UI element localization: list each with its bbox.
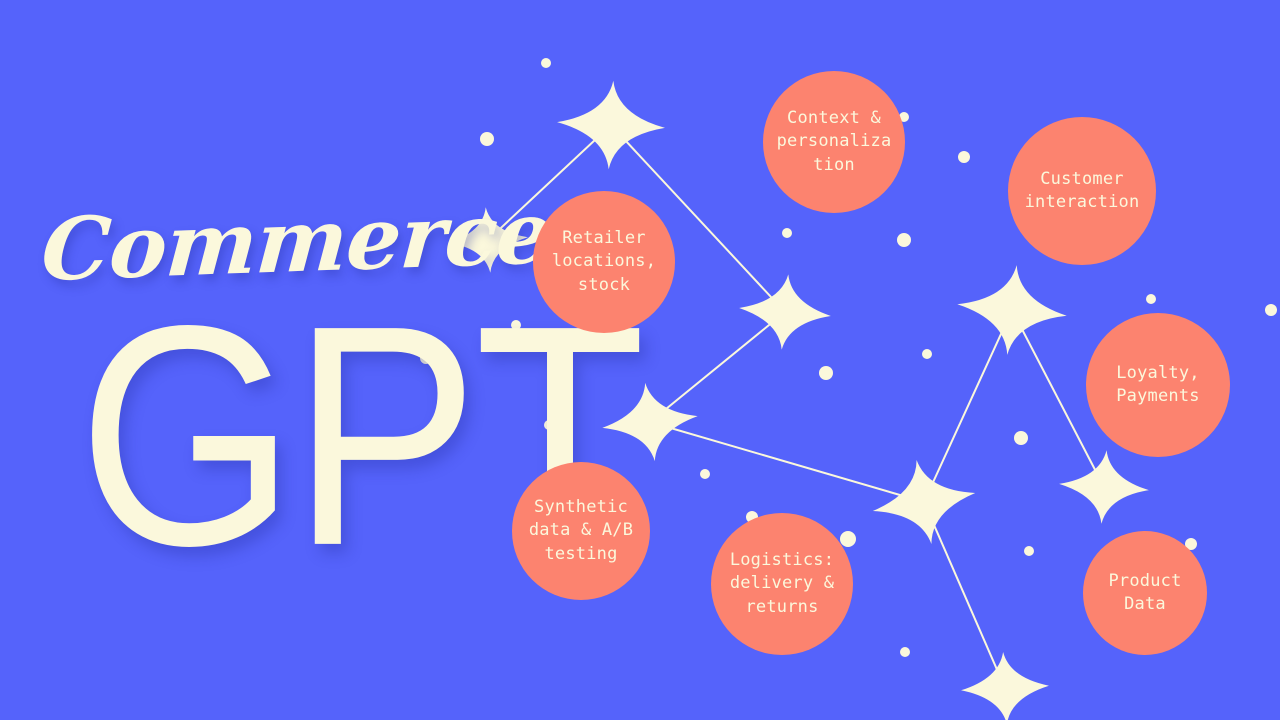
bubble-label-line: Synthetic — [529, 496, 633, 519]
star-top — [555, 78, 667, 172]
dot-14 — [700, 469, 710, 479]
star-upper-right — [953, 259, 1072, 360]
slide-canvas: Commerce GPT Context &personalizationCus… — [0, 0, 1280, 720]
bubble-context-personalization[interactable]: Context &personalization — [763, 71, 905, 213]
dot-20 — [1265, 304, 1277, 316]
bubble-label: Syntheticdata & A/Btesting — [529, 496, 633, 566]
line-midright-to-midleft — [650, 312, 785, 422]
dot-13 — [1014, 431, 1028, 445]
bubble-label-line: Payments — [1116, 385, 1199, 408]
bubble-label-line: Product — [1108, 570, 1181, 593]
line-midleft-to-centerbottom — [650, 422, 924, 502]
bubble-label-line: delivery & — [730, 572, 834, 595]
bubble-label: Loyalty,Payments — [1116, 362, 1199, 409]
dot-17 — [1024, 546, 1034, 556]
bubble-label-line: personaliza — [777, 130, 892, 153]
bubble-label: Retailerlocations,stock — [552, 227, 656, 297]
dot-4 — [958, 151, 970, 163]
dot-16 — [840, 531, 856, 547]
bubble-label-line: interaction — [1025, 191, 1140, 214]
star-bottom — [959, 650, 1051, 720]
star-center-bottom — [865, 451, 982, 553]
bubble-label: Context &personalization — [777, 107, 892, 177]
bubble-label: Logistics:delivery &returns — [730, 549, 834, 619]
dot-8 — [420, 352, 432, 364]
dot-9 — [922, 349, 932, 359]
bubble-label-line: Loyalty, — [1116, 362, 1199, 385]
bubble-product-data[interactable]: ProductData — [1083, 531, 1207, 655]
dot-7 — [511, 320, 521, 330]
bubble-label: ProductData — [1108, 570, 1181, 617]
bubble-label-line: stock — [552, 274, 656, 297]
line-centerbottom-to-bottom — [924, 502, 1005, 688]
star-left — [446, 204, 530, 275]
bubble-synthetic-data-ab-testing[interactable]: Syntheticdata & A/Btesting — [512, 462, 650, 600]
bubble-label-line: Data — [1108, 593, 1181, 616]
bubble-label-line: Customer — [1025, 168, 1140, 191]
bubble-label-line: locations, — [552, 250, 656, 273]
bubble-loyalty-payments[interactable]: Loyalty,Payments — [1086, 313, 1230, 457]
dot-5 — [782, 228, 792, 238]
star-mid-left — [598, 377, 703, 467]
star-right-lower — [1057, 447, 1152, 527]
dot-19 — [900, 647, 910, 657]
bubble-retailer-locations-stock[interactable]: Retailerlocations,stock — [533, 191, 675, 333]
bubble-label-line: Logistics: — [730, 549, 834, 572]
dot-10 — [819, 366, 833, 380]
dot-6 — [897, 233, 911, 247]
bubble-label-line: tion — [777, 154, 892, 177]
bubble-label: Customerinteraction — [1025, 168, 1140, 215]
dot-11 — [1146, 294, 1156, 304]
dot-12 — [544, 420, 554, 430]
dot-2 — [480, 132, 494, 146]
bubble-customer-interaction[interactable]: Customerinteraction — [1008, 117, 1156, 265]
bubble-label-line: testing — [529, 543, 633, 566]
bubble-logistics-delivery-returns[interactable]: Logistics:delivery &returns — [711, 513, 853, 655]
bubble-label-line: data & A/B — [529, 519, 633, 542]
bubble-label-line: Retailer — [552, 227, 656, 250]
bubble-label-line: returns — [730, 596, 834, 619]
bubble-label-line: Context & — [777, 107, 892, 130]
dot-1 — [541, 58, 551, 68]
line-upperright-to-centerbottom — [924, 310, 1012, 502]
